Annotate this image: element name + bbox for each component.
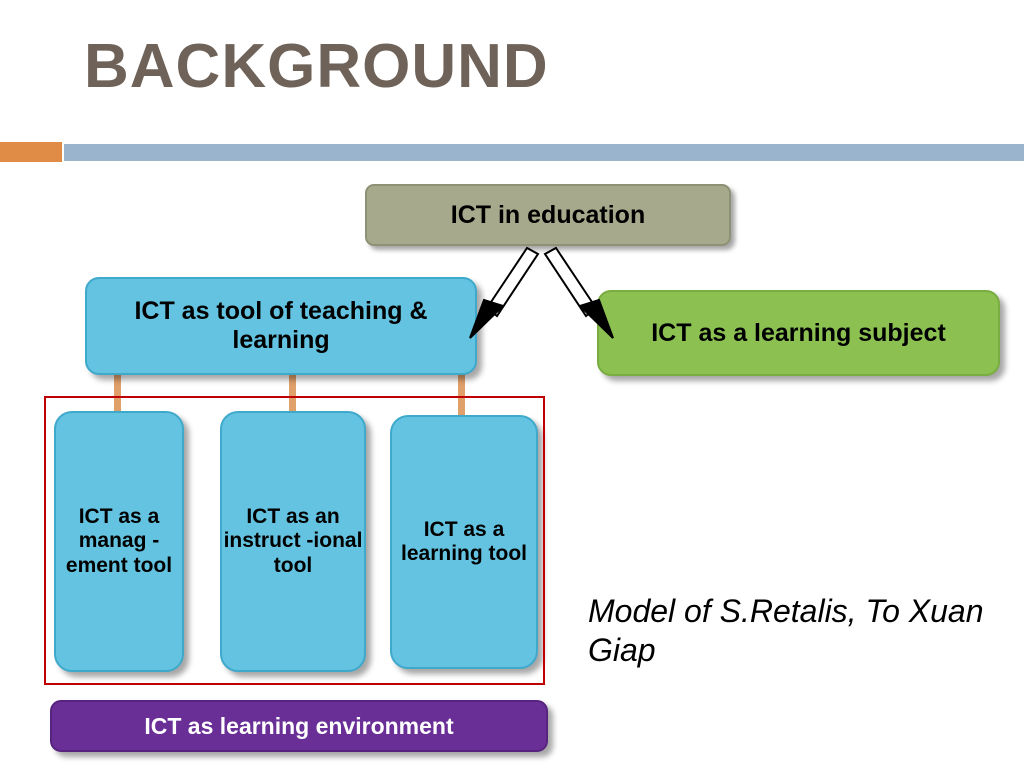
divider-bar [64,144,1024,161]
node-ict-as-learning-environment[interactable]: ICT as learning environment [50,700,548,752]
model-caption: Model of S.Retalis, To Xuan Giap [588,592,1008,670]
node-label: ICT as learning environment [144,713,453,739]
node-label: ICT as a learning subject [651,319,946,348]
node-label: ICT in education [451,201,645,230]
group-outline-rectangle [44,396,545,685]
node-label: ICT as tool of teaching & learning [87,297,475,355]
divider-accent-block [0,142,62,162]
node-ict-as-tool-of-teaching-and-learning[interactable]: ICT as tool of teaching & learning [85,277,477,375]
page-title: BACKGROUND [84,36,549,98]
node-ict-as-a-learning-subject[interactable]: ICT as a learning subject [597,290,1000,376]
node-ict-in-education[interactable]: ICT in education [365,184,731,246]
